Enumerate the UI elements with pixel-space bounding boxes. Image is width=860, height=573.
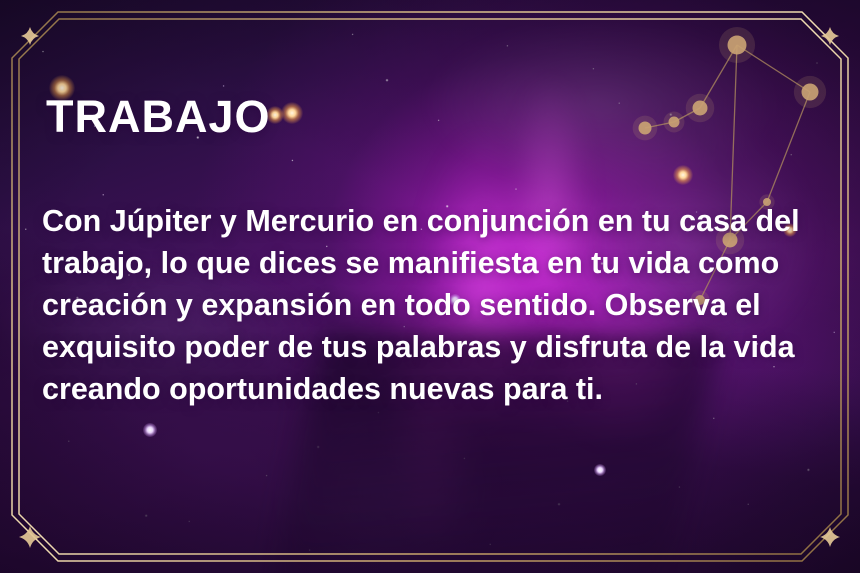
horoscope-body-text: Con Júpiter y Mercurio en conjunción en …	[42, 200, 832, 410]
page-title: TRABAJO	[46, 94, 271, 139]
card-content: TRABAJO Con Júpiter y Mercurio en conjun…	[0, 0, 860, 573]
horoscope-card: TRABAJO Con Júpiter y Mercurio en conjun…	[0, 0, 860, 573]
